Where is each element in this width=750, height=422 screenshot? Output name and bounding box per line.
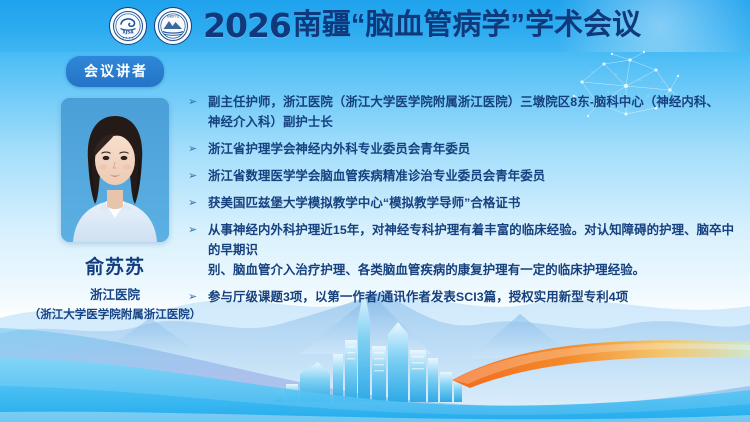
bullet-arrow-icon: ➢	[188, 166, 208, 185]
speaker-name: 俞苏苏	[85, 252, 145, 279]
conference-title: 2026 南疆“脑血管病学”学术会议	[203, 10, 641, 43]
bio-item-text: 从事神经内外科护理近15年，对神经专科护理有着丰富的临床经验。对认知障碍的护理、…	[208, 220, 746, 280]
bullet-arrow-icon: ➢	[188, 193, 208, 212]
bio-item: ➢ 获美国匹兹堡大学模拟教学中心“模拟教学导师”合格证书	[188, 193, 746, 213]
xjsa-association-logo: XJSA ★ ★ ★ ★	[109, 7, 147, 45]
bio-item: ➢ 参与厅级课题3项，以第一作者/通讯作者发表SCI3篇，授权实用新型专利4项	[188, 287, 746, 307]
mountain-hospital-logo: 新疆医学会	[154, 7, 192, 45]
title-type: 学术会议	[525, 9, 641, 41]
speaker-bio-list: ➢ 副主任护师，浙江医院（浙江大学医学院附属浙江医院）三墩院区8东-脑科中心（神…	[188, 92, 746, 314]
title-region: 南疆	[293, 9, 351, 41]
conference-title-cn: 南疆“脑血管病学”学术会议	[293, 11, 641, 40]
speaker-organization-full: （浙江大学医学院附属浙江医院）	[29, 306, 202, 322]
title-topic: “脑血管病学”	[351, 9, 525, 41]
bio-item: ➢ 浙江省护理学会神经内外科专业委员会青年委员	[188, 139, 746, 159]
bio-item: ➢ 浙江省数理医学学会脑血管疾病精准诊治专业委员会青年委员	[188, 166, 746, 186]
header-banner: XJSA ★ ★ ★ ★ 新疆医学会 2026 南疆“脑血管病学”学术会议	[0, 0, 750, 52]
bio-item-text: 副主任护师，浙江医院（浙江大学医学院附属浙江医院）三墩院区8东-脑科中心（神经内…	[208, 92, 746, 132]
conference-speaker-slide: XJSA ★ ★ ★ ★ 新疆医学会 2026 南疆“脑血管病学”学术会议	[0, 0, 750, 422]
bullet-arrow-icon: ➢	[188, 92, 208, 111]
bio-item-text: 参与厅级课题3项，以第一作者/通讯作者发表SCI3篇，授权实用新型专利4项	[208, 287, 746, 307]
bio-item-text: 获美国匹兹堡大学模拟教学中心“模拟教学导师”合格证书	[208, 193, 746, 213]
svg-text:新疆医学会: 新疆医学会	[167, 14, 180, 18]
svg-text:XJSA: XJSA	[123, 29, 135, 34]
speaker-organization: 浙江医院	[90, 284, 140, 303]
svg-text:★ ★ ★ ★: ★ ★ ★ ★	[122, 37, 134, 40]
bullet-arrow-icon: ➢	[188, 220, 208, 239]
speaker-portrait	[61, 98, 169, 242]
bio-item: ➢ 从事神经内外科护理近15年，对神经专科护理有着丰富的临床经验。对认知障碍的护…	[188, 220, 746, 280]
speaker-badge: 会议讲者	[66, 56, 164, 87]
bio-item-text: 浙江省护理学会神经内外科专业委员会青年委员	[208, 139, 746, 159]
bullet-arrow-icon: ➢	[188, 139, 208, 158]
bio-item-text: 浙江省数理医学学会脑血管疾病精准诊治专业委员会青年委员	[208, 166, 746, 186]
bullet-arrow-icon: ➢	[188, 287, 208, 306]
conference-year: 2026	[203, 9, 291, 42]
bio-item: ➢ 副主任护师，浙江医院（浙江大学医学院附属浙江医院）三墩院区8东-脑科中心（神…	[188, 92, 746, 132]
